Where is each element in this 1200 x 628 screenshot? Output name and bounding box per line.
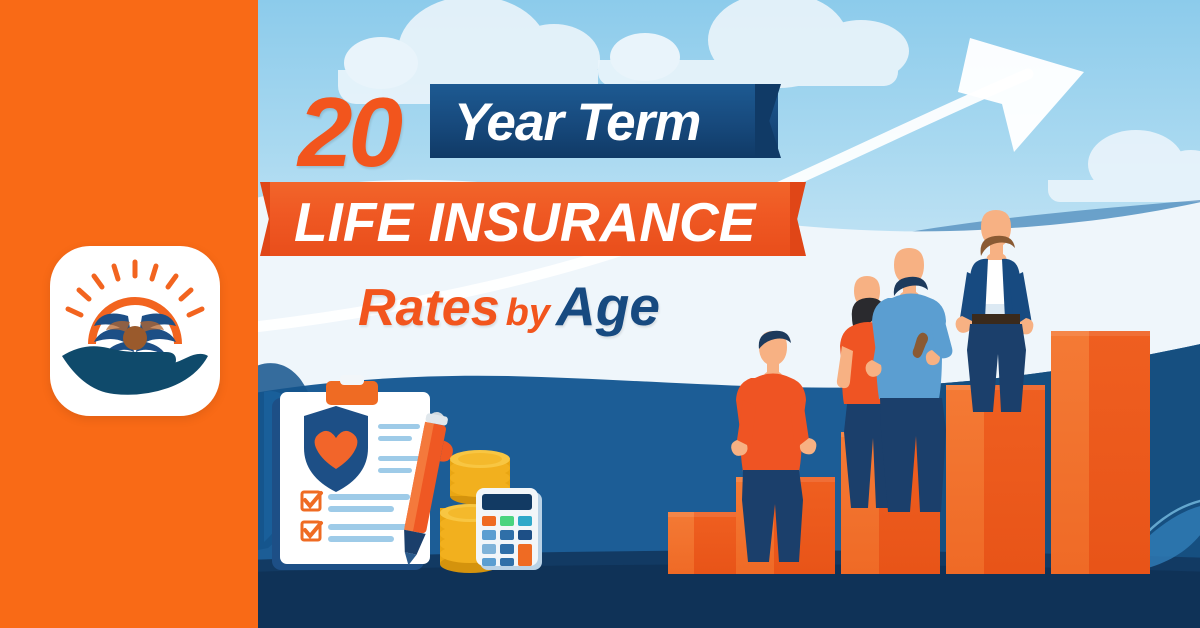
calculator	[476, 488, 542, 570]
orange-ribbon: LIFE INSURANCE	[260, 182, 805, 256]
headline-life-insurance: LIFE INSURANCE	[294, 190, 755, 254]
orange-ribbon-notch-right	[790, 182, 806, 256]
subtitle-by: by	[506, 292, 550, 334]
headline-row-1: 20 Year Term	[258, 82, 818, 164]
headline-block: 20 Year Term LIFE INSURANCE RatesbyAge	[258, 82, 818, 342]
illustration-scene: 20 Year Term LIFE INSURANCE RatesbyAge	[258, 0, 1200, 628]
headline-year-term: Year Term	[454, 92, 700, 153]
logo-tile[interactable]	[50, 246, 220, 416]
brand-panel	[0, 0, 258, 628]
headline-number: 20	[298, 76, 399, 189]
open-hand-icon	[62, 346, 208, 395]
subtitle-age: Age	[556, 275, 660, 337]
hand-with-winged-sun-logo	[50, 246, 220, 416]
headline-subtitle: RatesbyAge	[358, 274, 660, 338]
sun-rays-icon	[68, 262, 202, 315]
subtitle-rates: Rates	[358, 279, 500, 337]
banner-canvas: 20 Year Term LIFE INSURANCE RatesbyAge	[0, 0, 1200, 628]
orb-icon	[123, 326, 147, 350]
